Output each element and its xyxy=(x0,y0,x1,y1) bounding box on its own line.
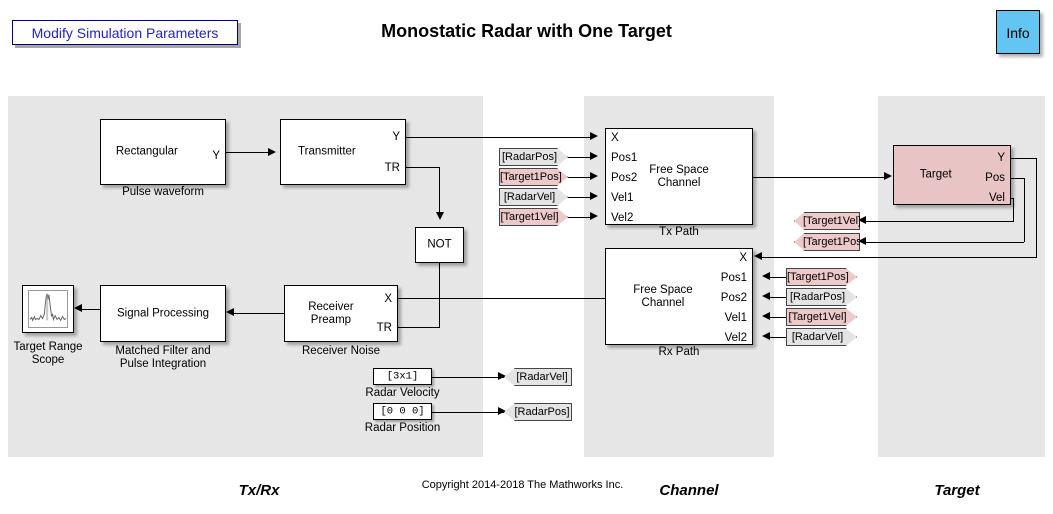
wire-target1pos-to-rxpath-pos1 xyxy=(770,277,786,278)
wire-rxpath-to-receiver-x xyxy=(398,298,606,299)
port-rxpath-vel1: Vel1 xyxy=(725,312,747,324)
copyright-notice: Copyright 2014-2018 The Mathworks Inc. xyxy=(330,479,715,491)
wire-target-y-right xyxy=(1011,158,1037,159)
port-pulse-y: Y xyxy=(212,150,220,162)
arrow-radarvel-goto-in xyxy=(498,372,506,380)
port-txpath-x: X xyxy=(611,132,619,144)
arrow-txpath-vel1-in xyxy=(590,192,598,200)
arrow-txpath-vel2-in xyxy=(590,212,598,220)
block-receiver-preamp[interactable]: Receiver Preamp X TR xyxy=(284,285,398,342)
block-rx-path[interactable]: Free Space Channel X Pos1 Pos2 Vel1 Vel2 xyxy=(605,248,753,345)
caption-rx-path: Rx Path xyxy=(605,346,753,359)
wire-txpath-to-target xyxy=(753,177,885,178)
caption-pulse-waveform: Pulse waveform xyxy=(100,186,226,199)
caption-radar-velocity: Radar Velocity xyxy=(353,387,452,400)
block-radar-velocity-constant[interactable]: [3x1] xyxy=(373,368,432,385)
from-tag-txpath-radarpos[interactable]: [RadarPos] xyxy=(499,148,568,166)
radar-velocity-value: [3x1] xyxy=(374,370,431,383)
txpath-label-line1: Free Space xyxy=(649,164,708,176)
wire-signalproc-to-scope xyxy=(82,309,100,310)
wire-radarvel-to-txpath-vel1 xyxy=(568,197,590,198)
scope-caption-line2: Scope xyxy=(32,354,65,366)
section-label-target: Target xyxy=(878,482,1036,499)
arrow-radarpos-goto-in xyxy=(498,407,506,415)
arrow-rxpath-pos1-in xyxy=(762,272,770,280)
block-not-gate[interactable]: NOT xyxy=(415,227,464,263)
scope-caption-line1: Target Range xyxy=(13,341,82,353)
section-label-txrx: Tx/Rx xyxy=(180,482,338,499)
wire-radarpos-to-rxpath-pos2 xyxy=(770,297,786,298)
wire-target-y-down xyxy=(1036,158,1037,258)
from-tag-txpath-radarvel[interactable]: [RadarVel] xyxy=(499,188,568,206)
arrow-transmitter-in xyxy=(268,148,276,156)
wire-not-out-down xyxy=(439,263,440,327)
block-pulse-waveform[interactable]: Rectangular Y xyxy=(100,119,226,185)
wire-radarpos-const-to-goto xyxy=(432,412,504,413)
port-target-vel: Vel xyxy=(989,192,1005,204)
wire-target-pos-to-goto xyxy=(866,242,1024,243)
block-radar-position-constant[interactable]: [0 0 0] xyxy=(373,403,432,420)
arrow-rxpath-pos2-in xyxy=(762,292,770,300)
info-button[interactable]: Info xyxy=(996,10,1040,54)
port-receiver-x: X xyxy=(384,293,392,305)
arrow-signalproc-in xyxy=(226,308,234,316)
wire-transmitter-tr-down xyxy=(439,167,440,212)
port-rxpath-pos2: Pos2 xyxy=(721,292,747,304)
wire-pulse-to-transmitter xyxy=(226,152,268,153)
port-target-pos: Pos xyxy=(985,172,1005,184)
caption-target-range-scope: Target Range Scope xyxy=(8,341,88,367)
port-txpath-vel2: Vel2 xyxy=(611,212,633,224)
from-tag-txpath-target1vel[interactable]: [Target1Vel] xyxy=(499,208,568,226)
block-label-signal-processing: Signal Processing xyxy=(101,307,225,320)
arrow-txpath-pos2-in xyxy=(590,172,598,180)
wire-target-vel-down xyxy=(1013,198,1014,222)
wire-target-vel-to-goto xyxy=(866,221,1013,222)
arrow-target-in xyxy=(884,172,892,180)
wire-radarvel-to-rxpath-vel2 xyxy=(770,337,786,338)
caption-receiver-noise: Receiver Noise xyxy=(284,345,398,358)
port-transmitter-y: Y xyxy=(392,131,400,143)
block-target-range-scope[interactable] xyxy=(22,285,74,333)
arrow-txpath-pos1-in xyxy=(590,152,598,160)
port-transmitter-tr: TR xyxy=(385,162,400,174)
goto-tag-target1pos[interactable]: [Target1Pos] xyxy=(794,233,860,251)
block-signal-processing[interactable]: Signal Processing xyxy=(100,285,226,342)
caption-matched-filter: Matched Filter and Pulse Integration xyxy=(90,345,236,371)
port-receiver-tr: TR xyxy=(377,322,392,334)
port-target-y: Y xyxy=(997,152,1005,164)
caption-tx-path: Tx Path xyxy=(605,226,753,239)
wire-target-pos-down xyxy=(1024,178,1025,242)
arrow-not-in xyxy=(436,212,444,220)
port-rxpath-x: X xyxy=(739,252,747,264)
from-tag-rxpath-radarvel[interactable]: [RadarVel] xyxy=(786,328,857,346)
page-title: Monostatic Radar with One Target xyxy=(0,21,1053,42)
wire-transmitter-y-to-txpath xyxy=(406,137,590,138)
caption-line1: Matched Filter and xyxy=(115,345,210,357)
block-label-transmitter: Transmitter xyxy=(281,146,373,159)
goto-tag-target1vel[interactable]: [Target1Vel] xyxy=(794,212,860,230)
arrow-scope-in xyxy=(74,304,82,312)
port-txpath-pos2: Pos2 xyxy=(611,172,637,184)
wire-transmitter-tr xyxy=(406,167,440,168)
caption-radar-position: Radar Position xyxy=(353,422,452,435)
block-tx-path[interactable]: Free Space Channel X Pos1 Pos2 Vel1 Vel2 xyxy=(605,128,753,225)
block-target[interactable]: Target Y Pos Vel xyxy=(893,145,1011,205)
scope-plot-icon xyxy=(28,290,68,328)
rxpath-label-line2: Channel xyxy=(642,297,685,309)
arrow-rxpath-vel2-in xyxy=(762,332,770,340)
arrow-txpath-x-in xyxy=(590,132,598,140)
block-label-not: NOT xyxy=(416,239,463,252)
caption-line2: Pulse Integration xyxy=(120,358,206,370)
wire-not-to-receiver-tr xyxy=(398,327,440,328)
radar-position-value: [0 0 0] xyxy=(374,405,431,418)
receiver-label-line1: Receiver xyxy=(308,301,353,313)
block-label-target: Target xyxy=(894,169,978,182)
from-tag-rxpath-target1pos[interactable]: [Target1Pos] xyxy=(786,268,857,286)
from-tag-rxpath-target1vel[interactable]: [Target1Vel] xyxy=(786,308,857,326)
wire-target1vel-to-rxpath-vel1 xyxy=(770,317,786,318)
port-rxpath-vel2: Vel2 xyxy=(725,332,747,344)
from-tag-txpath-target1pos[interactable]: [Target1Pos] xyxy=(499,168,568,186)
receiver-label-line2: Preamp xyxy=(311,314,351,326)
arrow-rxpath-vel1-in xyxy=(762,312,770,320)
simulink-canvas: Modify Simulation Parameters Monostatic … xyxy=(0,0,1053,514)
goto-tag-radarvel[interactable]: [RadarVel] xyxy=(504,368,572,386)
port-txpath-pos1: Pos1 xyxy=(611,152,637,164)
txpath-label-line2: Channel xyxy=(658,177,701,189)
wire-radarpos-to-txpath-pos1 xyxy=(568,157,590,158)
block-label-receiver-preamp: Receiver Preamp xyxy=(285,301,377,327)
block-label-rx-path-channel: Free Space Channel xyxy=(606,284,720,310)
port-txpath-vel1: Vel1 xyxy=(611,192,633,204)
from-tag-rxpath-radarpos[interactable]: [RadarPos] xyxy=(786,288,857,306)
rxpath-label-line1: Free Space xyxy=(633,284,692,296)
port-rxpath-pos1: Pos1 xyxy=(721,272,747,284)
block-label-rectangular: Rectangular xyxy=(101,146,193,159)
arrow-rxpath-x-in xyxy=(754,252,762,260)
wire-radarvel-const-to-goto xyxy=(432,377,504,378)
wire-target1vel-to-txpath-vel2 xyxy=(568,217,590,218)
goto-tag-radarpos[interactable]: [RadarPos] xyxy=(504,403,572,421)
wire-target1pos-to-txpath-pos2 xyxy=(568,177,590,178)
wire-receiver-to-signalproc xyxy=(234,313,284,314)
block-transmitter[interactable]: Transmitter Y TR xyxy=(280,119,406,185)
wire-target-y-to-rxpath-x xyxy=(762,257,1036,258)
